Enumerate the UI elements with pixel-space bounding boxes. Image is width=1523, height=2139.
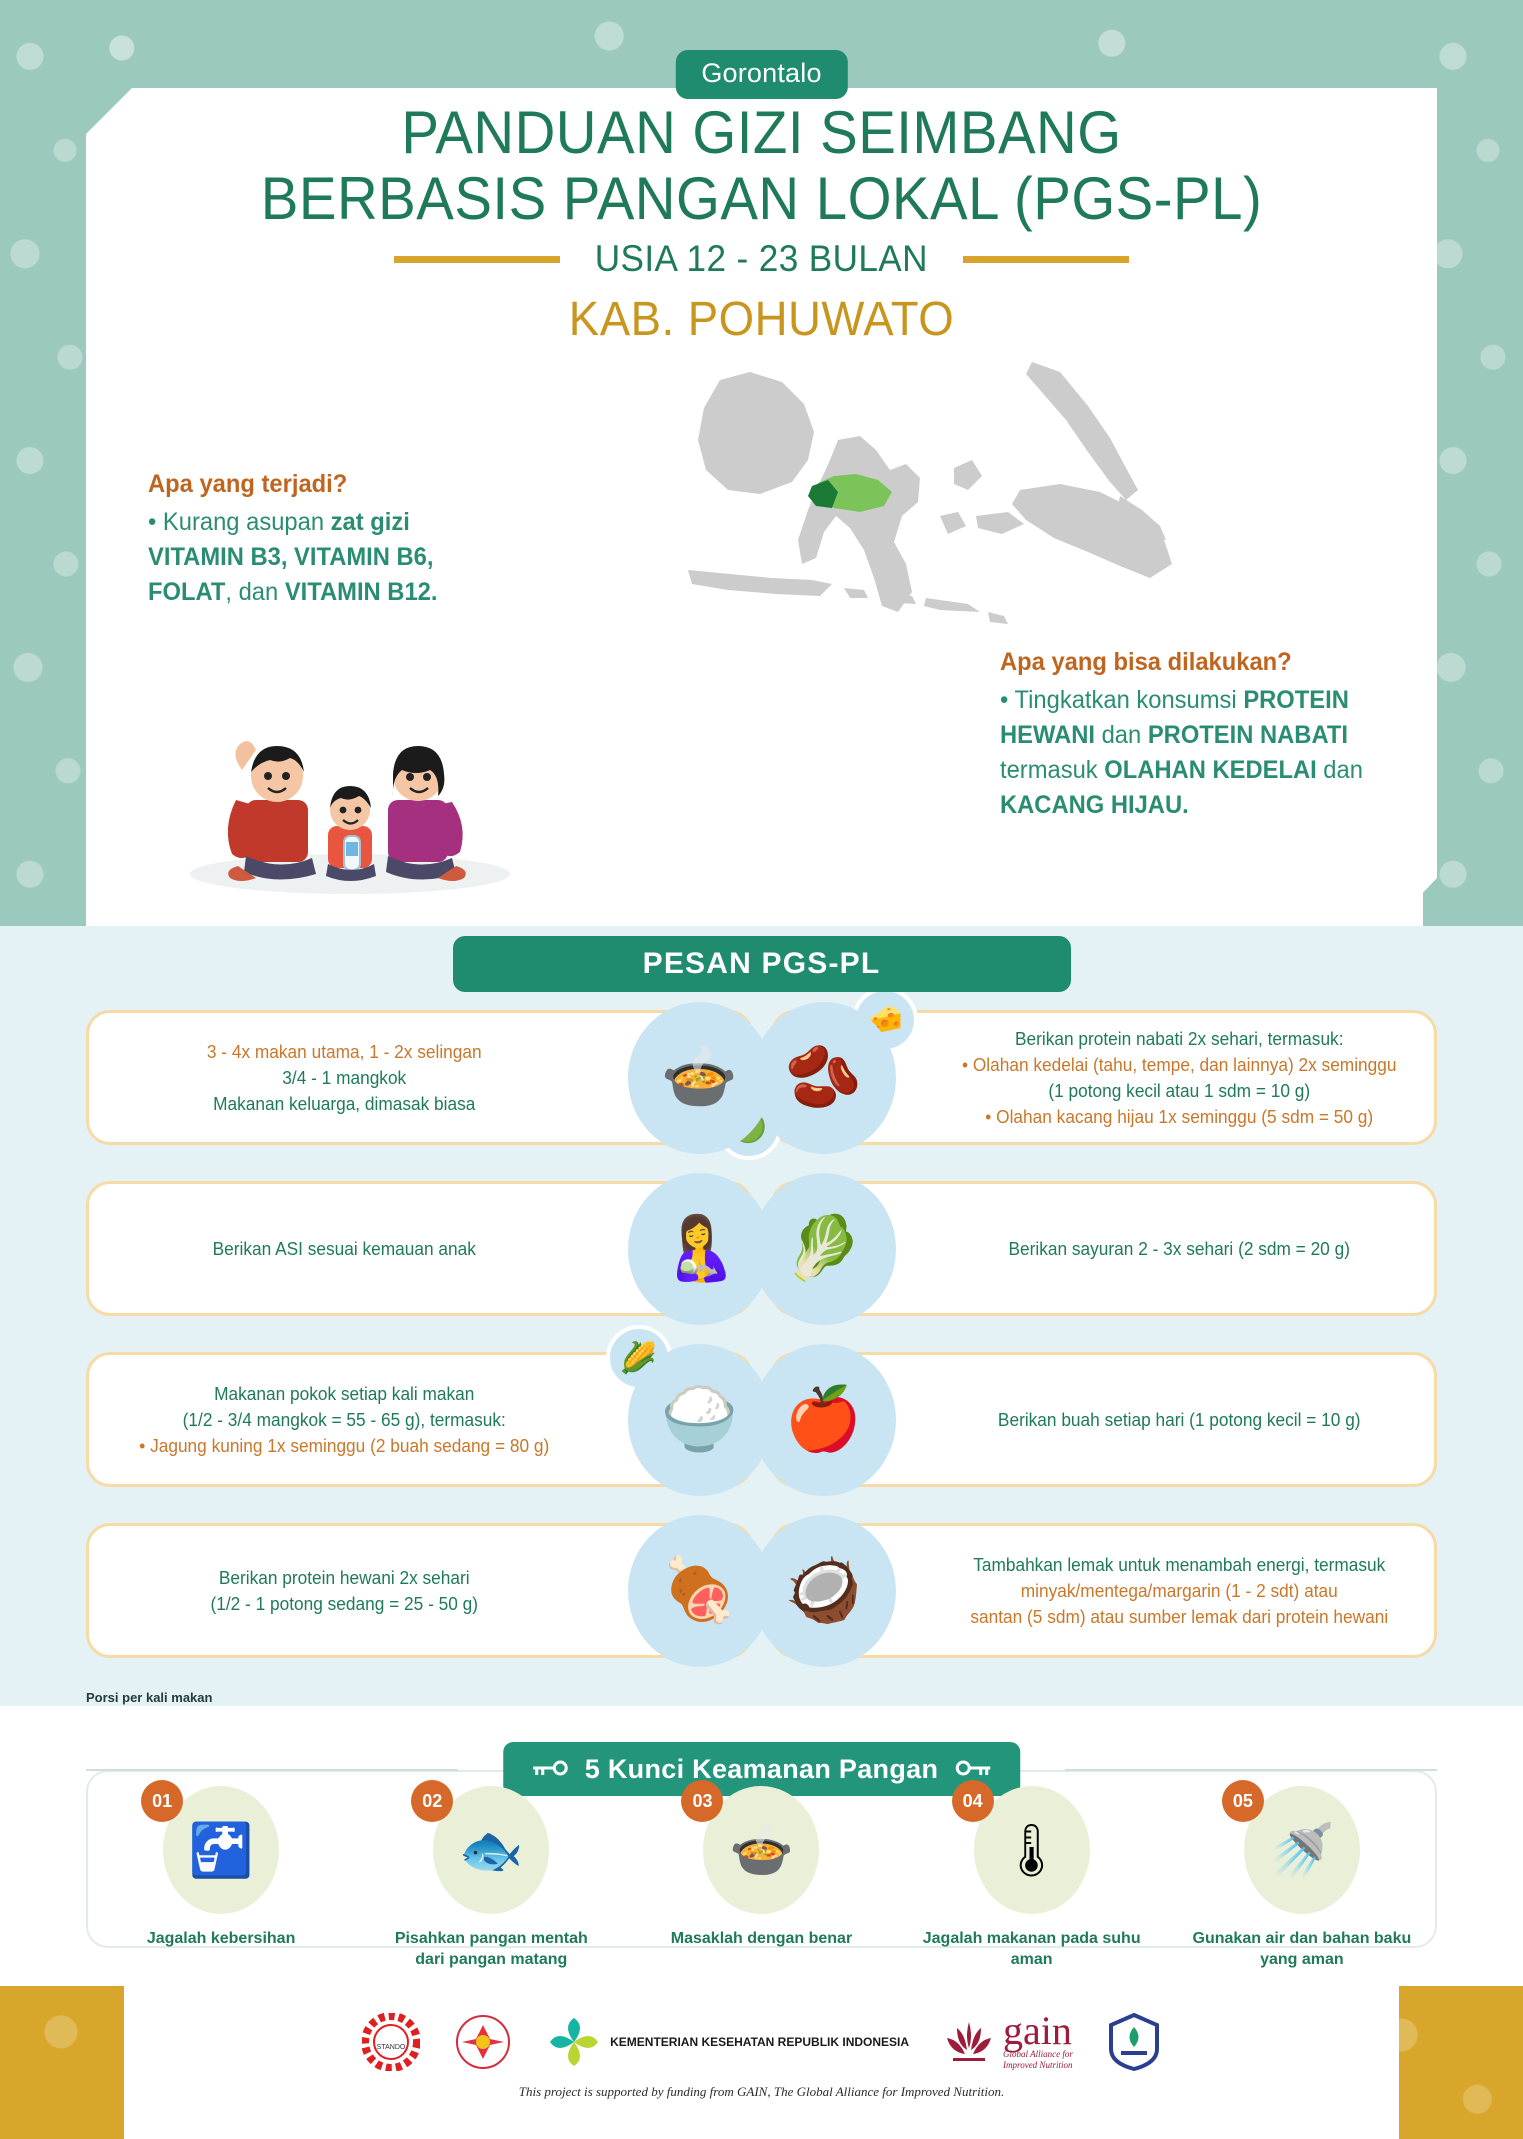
card-makanan-pokok-text: Makanan pokok setiap kali makan (1/2 - 3… [99, 1381, 589, 1459]
info-right-line3-bold: OLAHAN KEDELAI [1104, 756, 1316, 784]
info-left-body: • Kurang asupan zat gizi VITAMIN B3, VIT… [148, 505, 509, 610]
kunci-number: 04 [952, 1780, 994, 1822]
porsi-footnote: Porsi per kali makan [86, 1690, 212, 1705]
kunci-label: Jagalah makanan pada suhu aman [922, 1928, 1142, 1970]
card-protein-nabati-text: Berikan protein nabati 2x sehari, termas… [934, 1026, 1424, 1130]
info-right-line3-normal: termasuk [1000, 756, 1104, 784]
kunci-number: 01 [141, 1780, 183, 1822]
info-right-line2-normal: dan [1095, 721, 1148, 749]
kunci-banner-label: 5 Kunci Keamanan Pangan [585, 1754, 939, 1785]
info-right-line2a: HEWANI [1000, 721, 1095, 749]
info-right-line1-normal: Tingkatkan konsumsi [1015, 686, 1244, 714]
footer-logo-row: STANDO KEMENTERIAN KESEHATAN REPUBLIK IN… [124, 2004, 1399, 2080]
info-left-bullet: • [148, 508, 156, 536]
card-line: (1/2 - 1 potong sedang = 25 - 50 g) [99, 1591, 589, 1617]
card-line: Makanan keluarga, dimasak biasa [99, 1091, 589, 1117]
info-left-heading: Apa yang terjadi? [148, 470, 509, 499]
info-right-heading: Apa yang bisa dilakukan? [1000, 648, 1380, 677]
gain-wordmark: gain [1003, 2013, 1073, 2049]
card-lemak-text: Tambahkan lemak untuk menambah energi, t… [934, 1552, 1424, 1630]
separate-raw-cooked-icon: 🐟 02 [433, 1786, 549, 1914]
info-left-line3b: VITAMIN B12. [285, 578, 438, 606]
title-line-1: PANDUAN GIZI SEIMBANG [127, 100, 1397, 166]
card-line: • Jagung kuning 1x seminggu (2 buah seda… [99, 1433, 589, 1459]
poltekkes-gear-logo: STANDO [362, 2013, 420, 2071]
kunci-items-grid: 🚰 01 Jagalah kebersihan 🐟 02 Pisahkan pa… [86, 1786, 1437, 1986]
staple-foods-icon: 🍚 [628, 1344, 772, 1496]
title-line-3-row: USIA 12 - 23 BULAN [86, 238, 1437, 280]
page-title: PANDUAN GIZI SEIMBANG BERBASIS PANGAN LO… [86, 100, 1437, 347]
pesan-cards-grid: 3 - 4x makan utama, 1 - 2x selingan 3/4 … [0, 1010, 1523, 1658]
card-line: Makanan pokok setiap kali makan [99, 1381, 589, 1407]
card-line: • Olahan kacang hijau 1x seminggu (5 sdm… [934, 1104, 1424, 1130]
card-asi: Berikan ASI sesuai kemauan anak 🤱 [86, 1181, 753, 1316]
region-chip: Gorontalo [675, 50, 847, 99]
info-right-line4: KACANG HIJAU. [1000, 791, 1189, 819]
card-line: 3 - 4x makan utama, 1 - 2x selingan [99, 1039, 589, 1065]
kunci-number: 03 [681, 1780, 723, 1822]
kunci-number: 02 [411, 1780, 453, 1822]
info-right-bullet: • [1000, 686, 1008, 714]
card-line: • Olahan kedelai (tahu, tempe, dan lainn… [934, 1052, 1424, 1078]
kunci-rule-right [1065, 1769, 1437, 1771]
clean-water-icon: 🚿 05 [1244, 1786, 1360, 1914]
info-left-line2: VITAMIN B3, VITAMIN B6, [148, 543, 433, 571]
kunci-label: Jagalah kebersihan [111, 1928, 331, 1949]
kunci-rule-left [86, 1769, 458, 1771]
info-right-body: • Tingkatkan konsumsi PROTEIN HEWANI dan… [1000, 683, 1380, 823]
right-pattern-band [1423, 0, 1523, 940]
kunci-item-3: 🍲 03 Masaklah dengan benar [626, 1786, 896, 1986]
info-left-line1-bold: zat gizi [331, 508, 410, 536]
gain-tagline-1: Global Alliance for [1003, 2049, 1073, 2060]
card-lemak: 🥥 Tambahkan lemak untuk menambah energi,… [771, 1523, 1438, 1658]
fruits-icon: 🍎 [752, 1344, 896, 1496]
family-illustration-icon [150, 650, 550, 900]
funding-note: This project is supported by funding fro… [0, 2084, 1523, 2100]
card-line: 3/4 - 1 mangkok [99, 1065, 589, 1091]
kunci-label: Masaklah dengan benar [651, 1928, 871, 1949]
thermometer-icon: 🌡 04 [974, 1786, 1090, 1914]
card-sayuran-text: Berikan sayuran 2 - 3x sehari (2 sdm = 2… [934, 1236, 1424, 1262]
kunci-item-4: 🌡 04 Jagalah makanan pada suhu aman [897, 1786, 1167, 1986]
info-left-line3-normal: , dan [225, 578, 284, 606]
rule-right [963, 256, 1129, 263]
card-line: Berikan buah setiap hari (1 potong kecil… [934, 1407, 1424, 1433]
card-asi-text: Berikan ASI sesuai kemauan anak [99, 1236, 589, 1262]
card-line: Tambahkan lemak untuk menambah energi, t… [934, 1552, 1424, 1578]
cooking-pot-icon: 🍲 03 [703, 1786, 819, 1914]
title-line-2: BERBASIS PANGAN LOKAL (PGS-PL) [127, 166, 1397, 232]
kunci-label: Pisahkan pangan mentah dari pangan matan… [381, 1928, 601, 1970]
info-right-line3-normal-b: dan [1317, 756, 1363, 784]
title-line-3: USIA 12 - 23 BULAN [595, 238, 928, 280]
info-left-line3a: FOLAT [148, 578, 225, 606]
card-protein-hewani: Berikan protein hewani 2x sehari (1/2 - … [86, 1523, 753, 1658]
vegetables-icon: 🥬 [752, 1173, 896, 1325]
kemenkes-logo: KEMENTERIAN KESEHATAN REPUBLIK INDONESIA [546, 2014, 909, 2070]
title-line-4: KAB. POHUWATO [120, 292, 1403, 347]
kunci-item-1: 🚰 01 Jagalah kebersihan [86, 1786, 356, 1986]
kunci-item-5: 🚿 05 Gunakan air dan bahan baku yang ama… [1167, 1786, 1437, 1986]
card-line: Berikan protein hewani 2x sehari [99, 1565, 589, 1591]
info-block-what-to-do: Apa yang bisa dilakukan? • Tingkatkan ko… [1000, 648, 1400, 823]
breastfeeding-mother-icon: 🤱 [628, 1173, 772, 1325]
meat-and-fish-icon: 🍖 [628, 1515, 772, 1667]
oil-and-coconut-icon: 🥥 [752, 1515, 896, 1667]
info-block-what-happens: Apa yang terjadi? • Kurang asupan zat gi… [148, 470, 528, 610]
card-makan-utama: 3 - 4x makan utama, 1 - 2x selingan 3/4 … [86, 1010, 753, 1145]
kunci-label: Gunakan air dan bahan baku yang aman [1192, 1928, 1412, 1970]
key-icon [529, 1754, 569, 1785]
left-pattern-band [0, 0, 100, 940]
card-buah-text: Berikan buah setiap hari (1 potong kecil… [934, 1407, 1424, 1433]
card-protein-nabati: 🫘 🧀 🟢 Berikan protein nabati 2x sehari, … [771, 1010, 1438, 1145]
card-makan-utama-text: 3 - 4x makan utama, 1 - 2x selingan 3/4 … [99, 1039, 589, 1117]
card-line: Berikan protein nabati 2x sehari, termas… [934, 1026, 1424, 1052]
card-sayuran: 🥬 Berikan sayuran 2 - 3x sehari (2 sdm =… [771, 1181, 1438, 1316]
kunci-item-2: 🐟 02 Pisahkan pangan mentah dari pangan … [356, 1786, 626, 1986]
gain-logo-text: gain Global Alliance for Improved Nutrit… [1003, 2013, 1073, 2071]
bowl-of-soup-icon: 🍲 [628, 1002, 772, 1154]
kabupaten-pohuwato-logo [454, 2013, 512, 2071]
gain-logo: gain Global Alliance for Improved Nutrit… [943, 2013, 1073, 2071]
card-line: (1/2 - 3/4 mangkok = 55 - 65 g), termasu… [99, 1407, 589, 1433]
kunci-number: 05 [1222, 1780, 1264, 1822]
card-line: santan (5 sdm) atau sumber lemak dari pr… [934, 1604, 1424, 1630]
indonesia-map [420, 320, 1180, 700]
card-buah: 🍎 Berikan buah setiap hari (1 potong kec… [771, 1352, 1438, 1487]
card-line: (1 potong kecil atau 1 sdm = 10 g) [934, 1078, 1424, 1104]
card-makanan-pokok: Makanan pokok setiap kali makan (1/2 - 3… [86, 1352, 753, 1487]
info-right-line2b: PROTEIN NABATI [1148, 721, 1348, 749]
beans-and-tofu-icon: 🫘 [752, 1002, 896, 1154]
gain-tagline-2: Improved Nutrition [1003, 2060, 1073, 2071]
rule-left [394, 256, 560, 263]
card-protein-hewani-text: Berikan protein hewani 2x sehari (1/2 - … [99, 1565, 589, 1617]
svg-text:STANDO: STANDO [377, 2044, 406, 2051]
kemenkes-logo-text: KEMENTERIAN KESEHATAN REPUBLIK INDONESIA [610, 2035, 909, 2049]
pesan-banner: PESAN PGS-PL [453, 936, 1071, 992]
card-line: Berikan sayuran 2 - 3x sehari (2 sdm = 2… [934, 1236, 1424, 1262]
handwashing-icon: 🚰 01 [163, 1786, 279, 1914]
info-right-line1-bold: PROTEIN [1243, 686, 1349, 714]
info-left-line1-normal: Kurang asupan [163, 508, 331, 536]
poltekkes-kendari-logo [1107, 2013, 1161, 2071]
card-line: Berikan ASI sesuai kemauan anak [99, 1236, 589, 1262]
card-line: minyak/mentega/margarin (1 - 2 sdt) atau [934, 1578, 1424, 1604]
